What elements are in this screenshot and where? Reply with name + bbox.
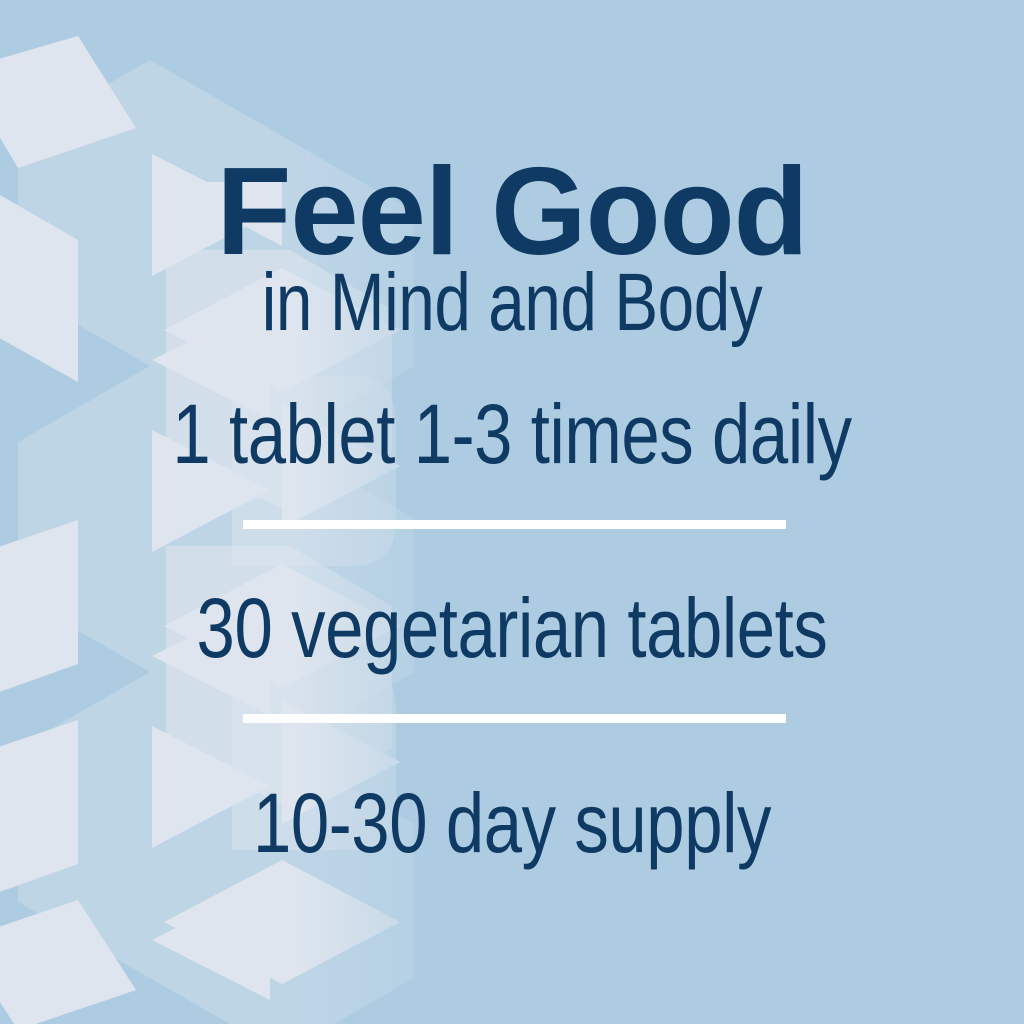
fact-dosage: 1 tablet 1-3 times daily: [92, 392, 932, 476]
divider-after-count: [243, 714, 786, 723]
divider-after-dosage: [243, 520, 786, 529]
text-content-stack: Feel Good in Mind and Body 1 tablet 1-3 …: [0, 0, 1024, 1024]
product-info-panel: Feel Good in Mind and Body 1 tablet 1-3 …: [0, 0, 1024, 1024]
page-subtitle: in Mind and Body: [102, 262, 921, 344]
fact-tablet-count: 30 vegetarian tablets: [92, 586, 932, 670]
page-title: Feel Good: [5, 150, 1019, 274]
fact-day-supply: 10-30 day supply: [92, 781, 932, 865]
